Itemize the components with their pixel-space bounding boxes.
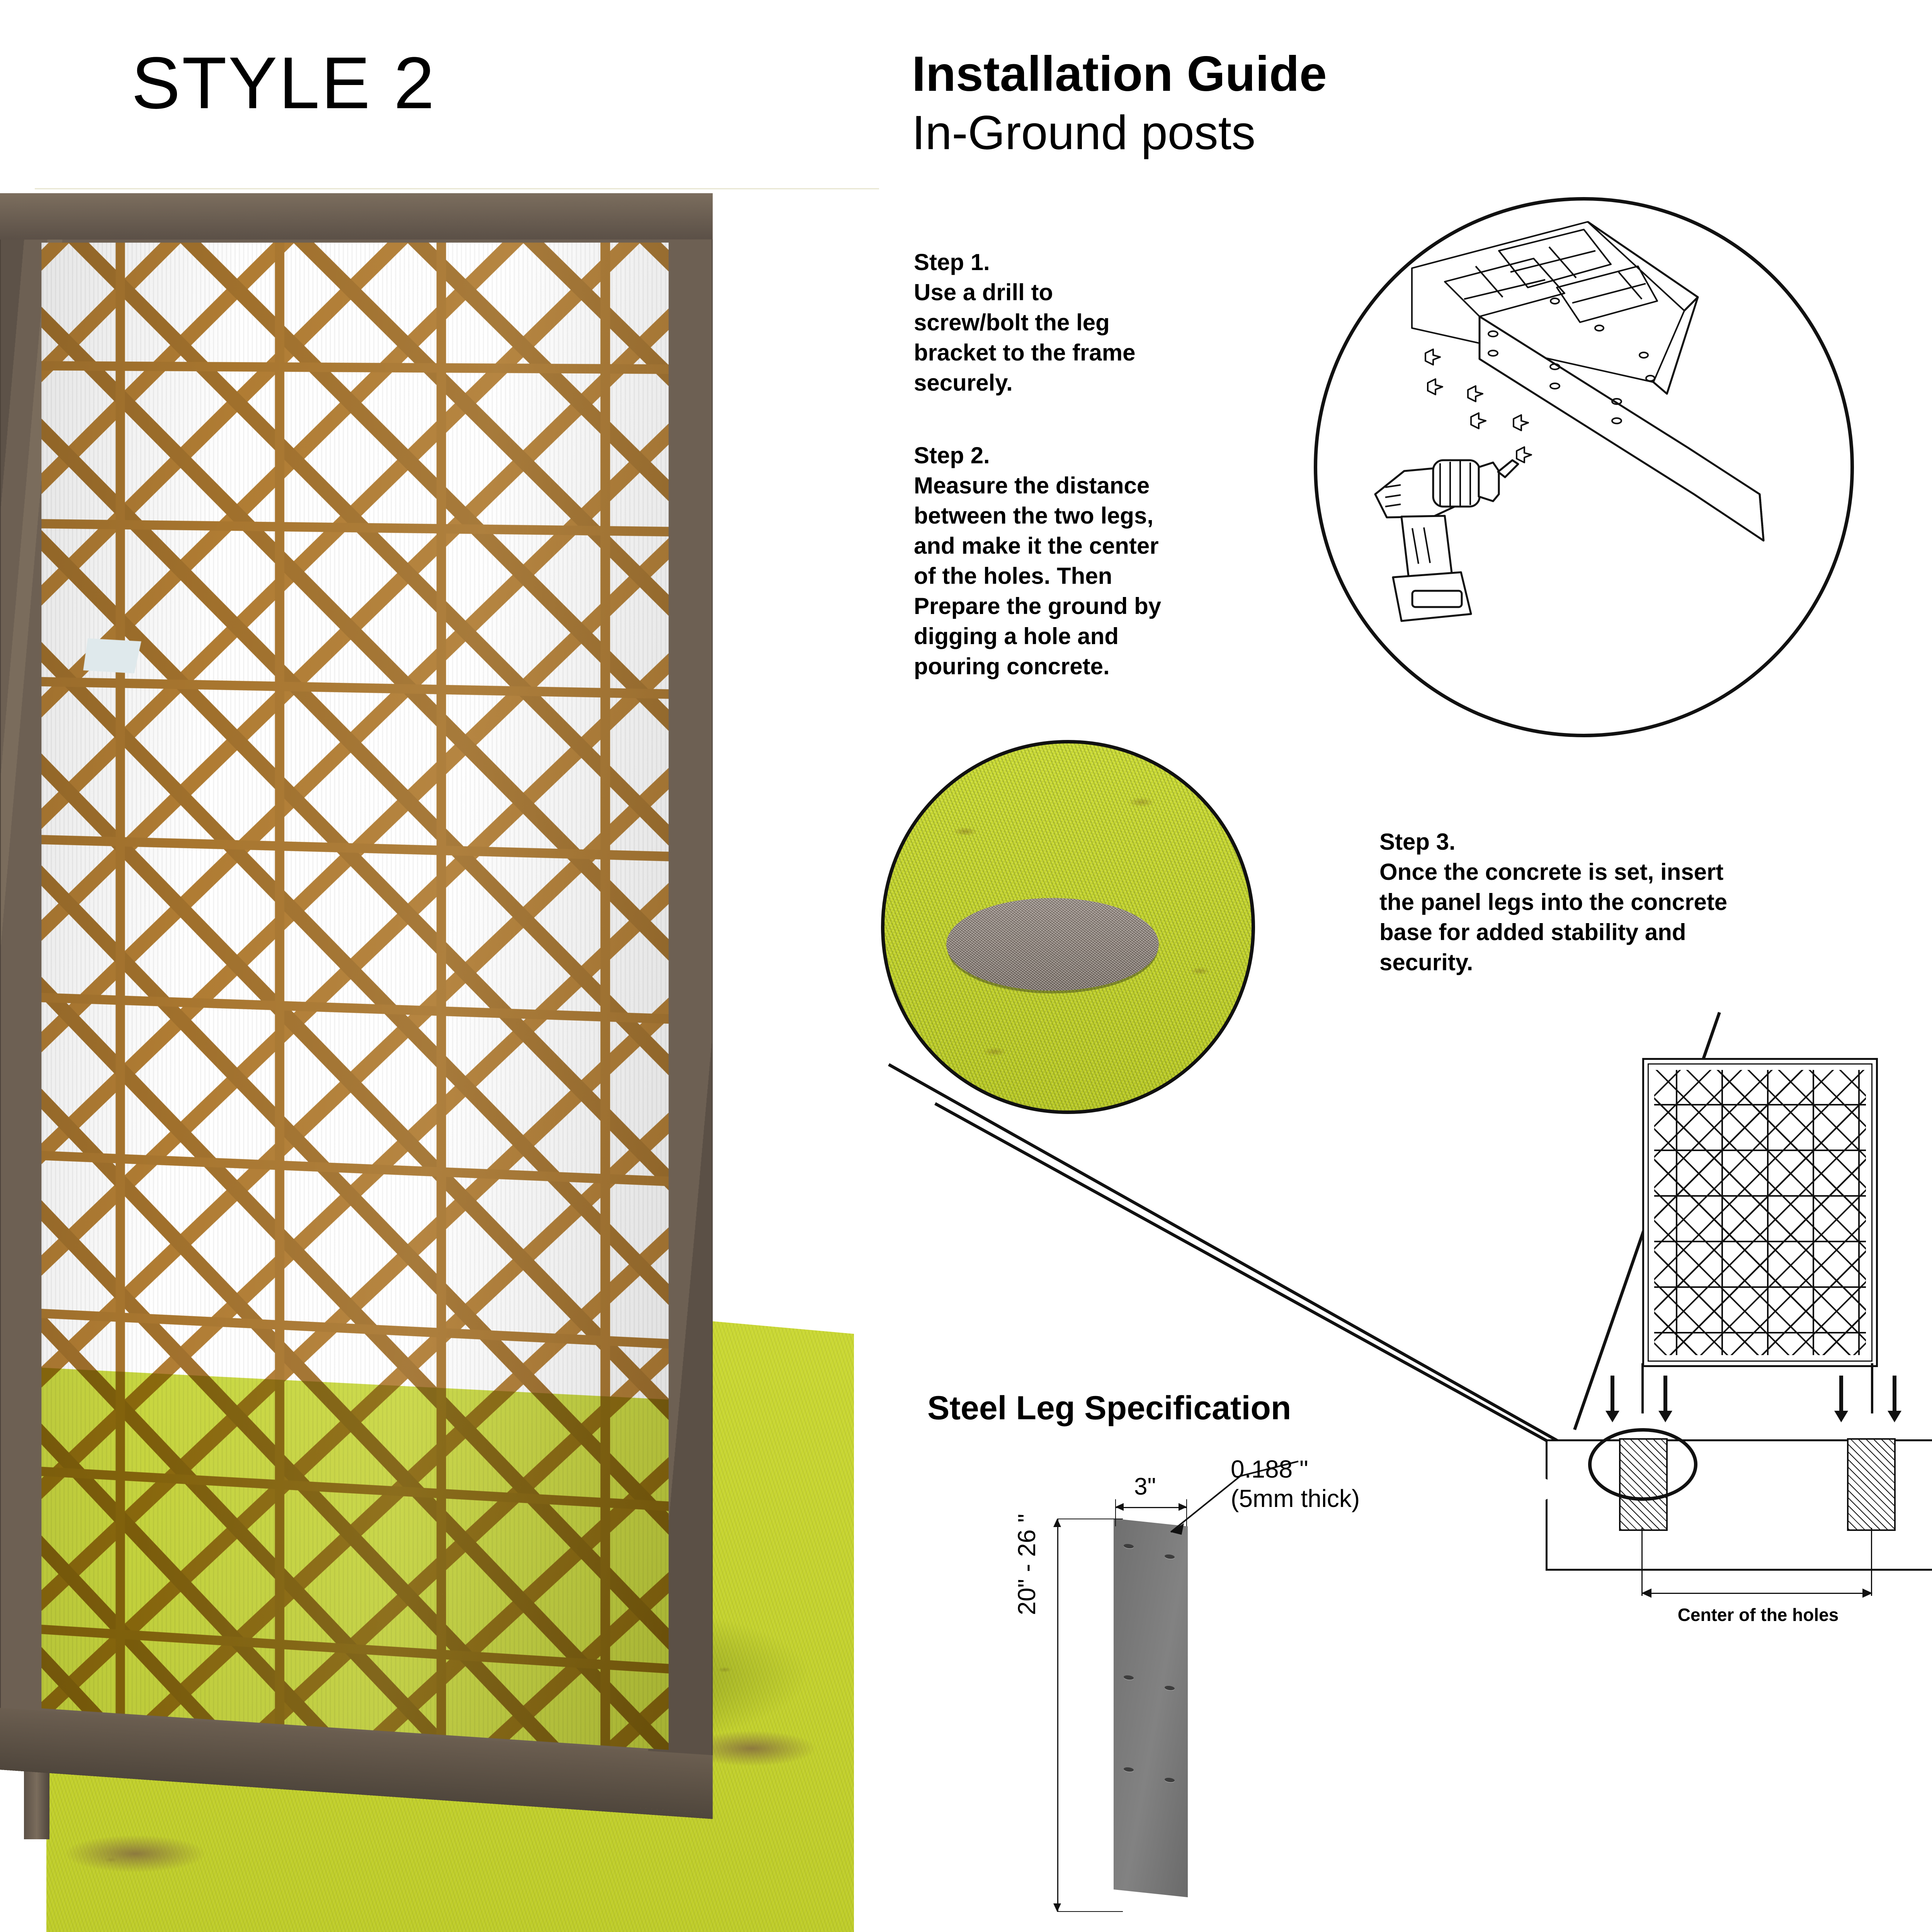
drill-detail-circle [1314, 197, 1854, 737]
embedded-leg-right [1847, 1438, 1896, 1531]
leg-height-dimension [1057, 1519, 1058, 1912]
leg-height-label: 20" - 26 " [1012, 1514, 1041, 1615]
leg-thickness-label: 0.188 "(5mm thick) [1231, 1455, 1360, 1513]
product-render [0, 193, 889, 1932]
center-of-holes-dimension [1642, 1593, 1872, 1594]
spec-title: Steel Leg Specification [927, 1389, 1291, 1427]
center-of-holes-label: Center of the holes [1611, 1604, 1905, 1625]
bolt-hole [1165, 1777, 1175, 1783]
panel-top-rail [0, 193, 713, 240]
cross-section-diagram: Center of the holes [1499, 1028, 1932, 1607]
step-1-heading: Step 1. [914, 249, 990, 275]
bolt-hole [1124, 1767, 1134, 1772]
dimension-extension-right [1871, 1528, 1872, 1596]
sky-reflection-facet [83, 638, 141, 673]
step-3-body: Once the concrete is set, insert the pan… [1379, 859, 1727, 975]
step-3-heading: Step 3. [1379, 829, 1456, 855]
insert-arrow-2 [1663, 1376, 1667, 1412]
bolt-hole [1165, 1685, 1175, 1691]
bolt-hole [1124, 1675, 1134, 1680]
drill-scene-svg [1317, 201, 1844, 727]
mini-lattice-pattern [1654, 1070, 1866, 1355]
lattice-shading [41, 243, 668, 1750]
mini-leg-right [1871, 1363, 1873, 1413]
dimension-extension-left [1641, 1528, 1643, 1596]
detail-callout-ellipse [1588, 1428, 1697, 1501]
insert-arrow-4 [1893, 1376, 1896, 1412]
insert-arrow-3 [1839, 1376, 1843, 1412]
page-title: STYLE 2 [131, 46, 436, 120]
title-divider [35, 188, 879, 189]
bolt-hole [1124, 1544, 1134, 1549]
leg-height-ext-top [1057, 1519, 1123, 1519]
step-1-block: Step 1.Use a drill to screw/bolt the leg… [914, 247, 1285, 398]
mini-panel-elevation [1642, 1058, 1878, 1367]
panel-lattice-area [41, 243, 668, 1750]
steel-leg-plate [1114, 1519, 1188, 1897]
guide-subtitle: In-Ground posts [912, 106, 1255, 160]
ground-hole-circle [881, 740, 1255, 1114]
step-2-block: Step 2.Measure the distance between the … [914, 440, 1285, 682]
privacy-screen-panel [0, 193, 713, 1819]
step-2-heading: Step 2. [914, 442, 990, 468]
step-2-body: Measure the distance between the two leg… [914, 473, 1161, 679]
concrete-base-ellipse [946, 898, 1159, 991]
step-1-body: Use a drill to screw/bolt the leg bracke… [914, 279, 1136, 396]
dirt-patch-left [66, 1835, 205, 1872]
step-3-block: Step 3.Once the concrete is set, insert … [1379, 827, 1920, 978]
leg-width-ext-left [1115, 1499, 1116, 1526]
mini-leg-left [1641, 1363, 1644, 1413]
guide-title: Installation Guide [912, 46, 1327, 102]
bolt-hole [1165, 1554, 1175, 1560]
insert-arrow-1 [1611, 1376, 1614, 1412]
leg-height-ext-bottom [1057, 1911, 1123, 1912]
